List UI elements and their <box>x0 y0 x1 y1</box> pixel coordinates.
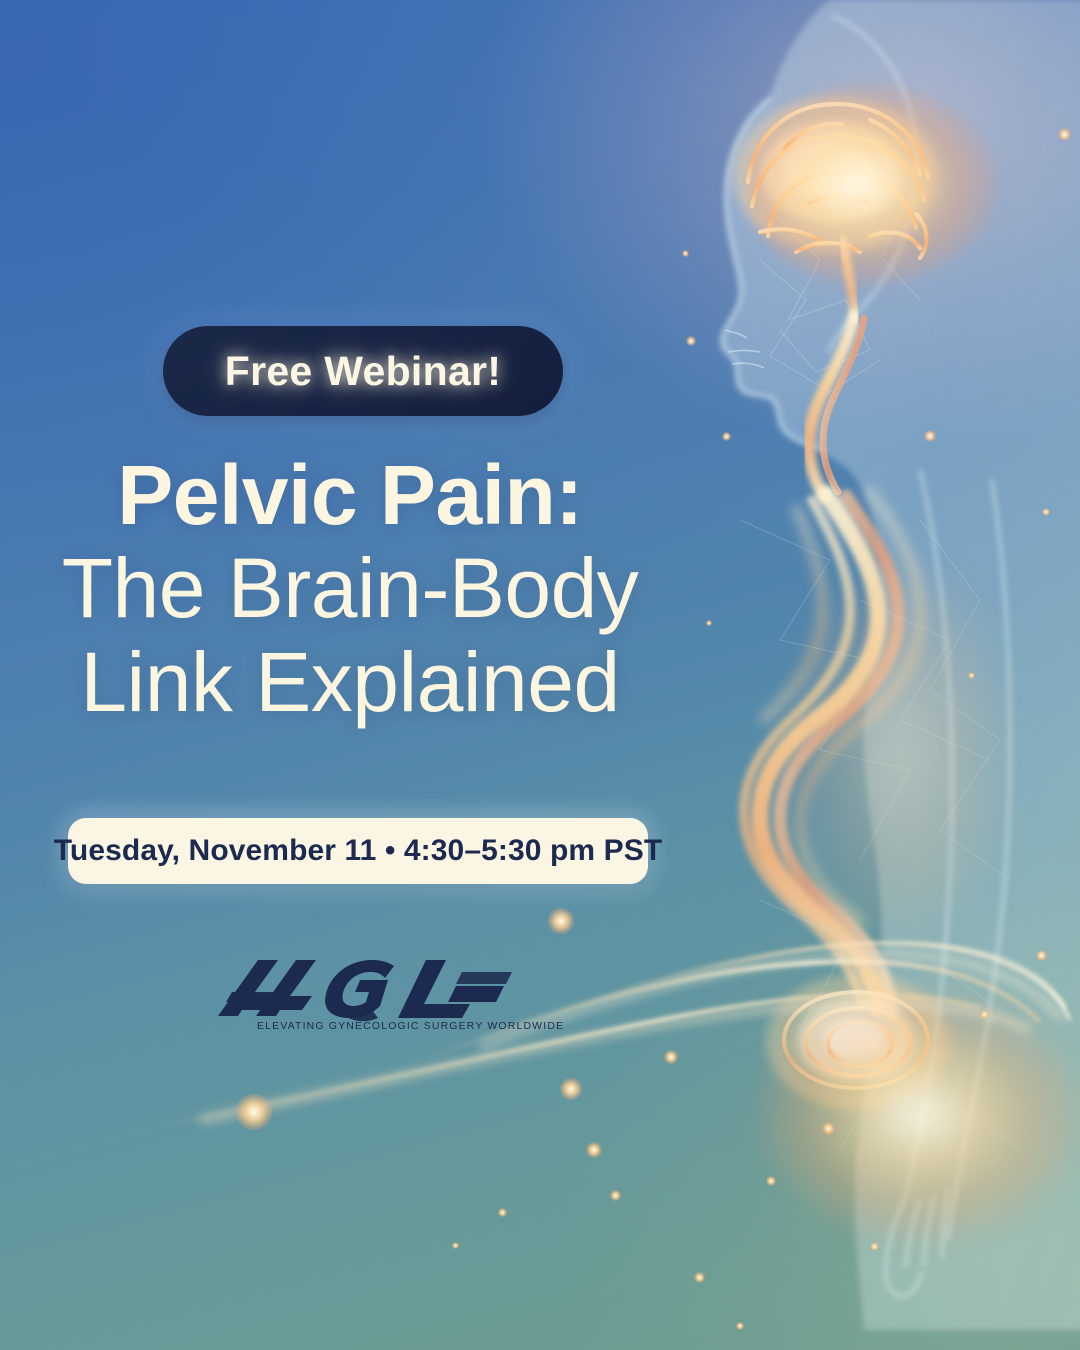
aagl-logo[interactable]: ELEVATING GYNECOLOGIC SURGERY WORLDWIDE <box>212 952 522 1048</box>
poster-content: Free Webinar! Pelvic Pain: The Brain-Bod… <box>0 0 700 1350</box>
webinar-poster: Free Webinar! Pelvic Pain: The Brain-Bod… <box>0 0 1080 1350</box>
date-time-pill: Tuesday, November 11 • 4:30–5:30 pm PST <box>68 818 648 884</box>
title-line-1: Pelvic Pain: <box>0 452 700 539</box>
title-line-3: Link Explained <box>0 639 700 726</box>
date-time-label: Tuesday, November 11 • 4:30–5:30 pm PST <box>54 834 663 868</box>
badge-label: Free Webinar! <box>225 348 502 395</box>
aagl-wordmark-icon <box>212 952 522 1024</box>
poster-title: Pelvic Pain: The Brain-Body Link Explain… <box>0 452 700 726</box>
free-webinar-badge[interactable]: Free Webinar! <box>163 326 563 416</box>
aagl-tagline: ELEVATING GYNECOLOGIC SURGERY WORLDWIDE <box>257 1020 522 1032</box>
title-line-2: The Brain-Body <box>0 545 700 632</box>
